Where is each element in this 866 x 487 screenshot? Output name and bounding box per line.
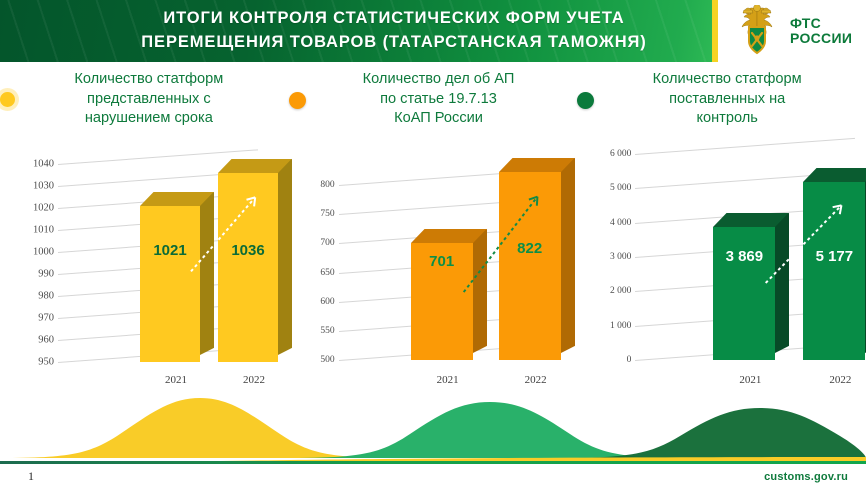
y-axis-tick-label: 1040 (33, 159, 54, 170)
x-axis-tick-label: 2022 (243, 374, 265, 386)
bar-chart-admin-cases: 50055060065070075080070120218222022 (289, 150, 578, 390)
bar-side-face (561, 158, 575, 353)
y-axis-tick-label: 3 000 (610, 252, 631, 262)
y-axis-tick-label: 950 (38, 357, 54, 368)
chart-title-3-text: Количество статформ поставленных на конт… (602, 70, 866, 129)
y-axis-tick-label: 0 (627, 355, 632, 365)
bar-2021: 3 869 (713, 227, 775, 360)
y-axis-tick-label: 750 (320, 209, 334, 219)
bar-2022: 1036 (218, 173, 278, 362)
y-axis-tick-label: 990 (38, 269, 54, 280)
bar-side-face (775, 213, 789, 353)
slide-header: ИТОГИ КОНТРОЛЯ СТАТИСТИЧЕСКИХ ФОРМ УЧЕТА… (0, 0, 866, 62)
x-axis-tick-label: 2021 (165, 374, 187, 386)
chart-title-1: Количество статформ представленных с нар… (0, 66, 289, 141)
x-axis-tick-label: 2022 (829, 374, 851, 386)
y-axis-tick-label: 1020 (33, 203, 54, 214)
orange-dot-icon (289, 92, 306, 109)
footer-accent-line (0, 451, 866, 458)
y-axis-tick-label: 5 000 (610, 183, 631, 193)
site-url: customs.gov.ru (764, 471, 848, 483)
bar-front-face (803, 182, 865, 360)
bar-front-face (499, 172, 561, 360)
bar-value-label: 701 (411, 253, 473, 270)
y-axis-labels: 500550600650700750800 (289, 150, 339, 390)
green-dot-icon (577, 92, 594, 109)
y-axis-tick-label: 700 (320, 238, 334, 248)
slide-footer: 1 customs.gov.ru (0, 466, 866, 487)
header-accent-stripe (712, 0, 718, 62)
x-axis-tick-label: 2021 (437, 374, 459, 386)
x-axis-tick-label: 2021 (739, 374, 761, 386)
chart-title-3: Количество статформ поставленных на конт… (577, 66, 866, 141)
bar-front-face (218, 173, 278, 362)
y-axis-tick-label: 960 (38, 335, 54, 346)
bar-chart-statforms-controlled: 01 0002 0003 0004 0005 0006 0003 8692021… (577, 150, 866, 390)
bar-value-label: 3 869 (713, 248, 775, 265)
russian-coat-of-arms-double-headed-eagle-icon (730, 5, 784, 57)
bar-2022: 822 (499, 172, 561, 360)
bar-value-label: 1036 (218, 242, 278, 259)
bar-2021: 1021 (140, 206, 200, 362)
y-axis-tick-label: 800 (320, 180, 334, 190)
yellow-dot-icon (0, 92, 15, 107)
logo-text: ФТС РОССИИ (790, 16, 852, 45)
y-axis-tick-label: 1030 (33, 181, 54, 192)
page-title: ИТОГИ КОНТРОЛЯ СТАТИСТИЧЕСКИХ ФОРМ УЧЕТА… (71, 7, 646, 55)
bar-side-face (200, 192, 214, 355)
decorative-waves (0, 388, 866, 460)
charts-row: 9509609709809901000101010201030104010212… (0, 150, 866, 390)
bar-value-label: 822 (499, 240, 561, 257)
logo-block: ФТС РОССИИ (718, 0, 866, 62)
chart-titles-row: Количество статформ представленных с нар… (0, 66, 866, 141)
bar-2022: 5 177 (803, 182, 865, 360)
bar-value-label: 1021 (140, 242, 200, 259)
chart-title-2: Количество дел об АП по статье 19.7.13 К… (289, 66, 578, 141)
y-axis-tick-label: 2 000 (610, 286, 631, 296)
bar-chart-statforms-late: 9509609709809901000101010201030104010212… (0, 150, 289, 390)
footer-divider (0, 461, 866, 464)
bar-top-face (803, 168, 866, 182)
y-axis-tick-label: 970 (38, 313, 54, 324)
y-axis-tick-label: 650 (320, 268, 334, 278)
bar-side-face (473, 229, 487, 353)
y-axis-tick-label: 1000 (33, 247, 54, 258)
bar-top-face (411, 229, 487, 243)
y-axis-tick-label: 1 000 (610, 321, 631, 331)
y-axis-tick-label: 500 (320, 355, 334, 365)
bar-value-label: 5 177 (803, 248, 865, 265)
y-axis-labels: 95096097098099010001010102010301040 (0, 150, 58, 390)
y-axis-tick-label: 600 (320, 297, 334, 307)
y-axis-tick-label: 550 (320, 326, 334, 336)
bar-front-face (140, 206, 200, 362)
chart-title-2-text: Количество дел об АП по статье 19.7.13 К… (314, 70, 578, 129)
y-axis-labels: 01 0002 0003 0004 0005 0006 000 (577, 150, 635, 390)
y-axis-tick-label: 4 000 (610, 218, 631, 228)
bar-2021: 701 (411, 243, 473, 360)
chart-title-1-text: Количество статформ представленных с нар… (23, 70, 289, 129)
y-axis-tick-label: 1010 (33, 225, 54, 236)
y-axis-tick-label: 980 (38, 291, 54, 302)
header-banner: ИТОГИ КОНТРОЛЯ СТАТИСТИЧЕСКИХ ФОРМ УЧЕТА… (0, 0, 718, 62)
x-axis-tick-label: 2022 (525, 374, 547, 386)
page-number: 1 (28, 469, 34, 484)
y-axis-tick-label: 6 000 (610, 149, 631, 159)
